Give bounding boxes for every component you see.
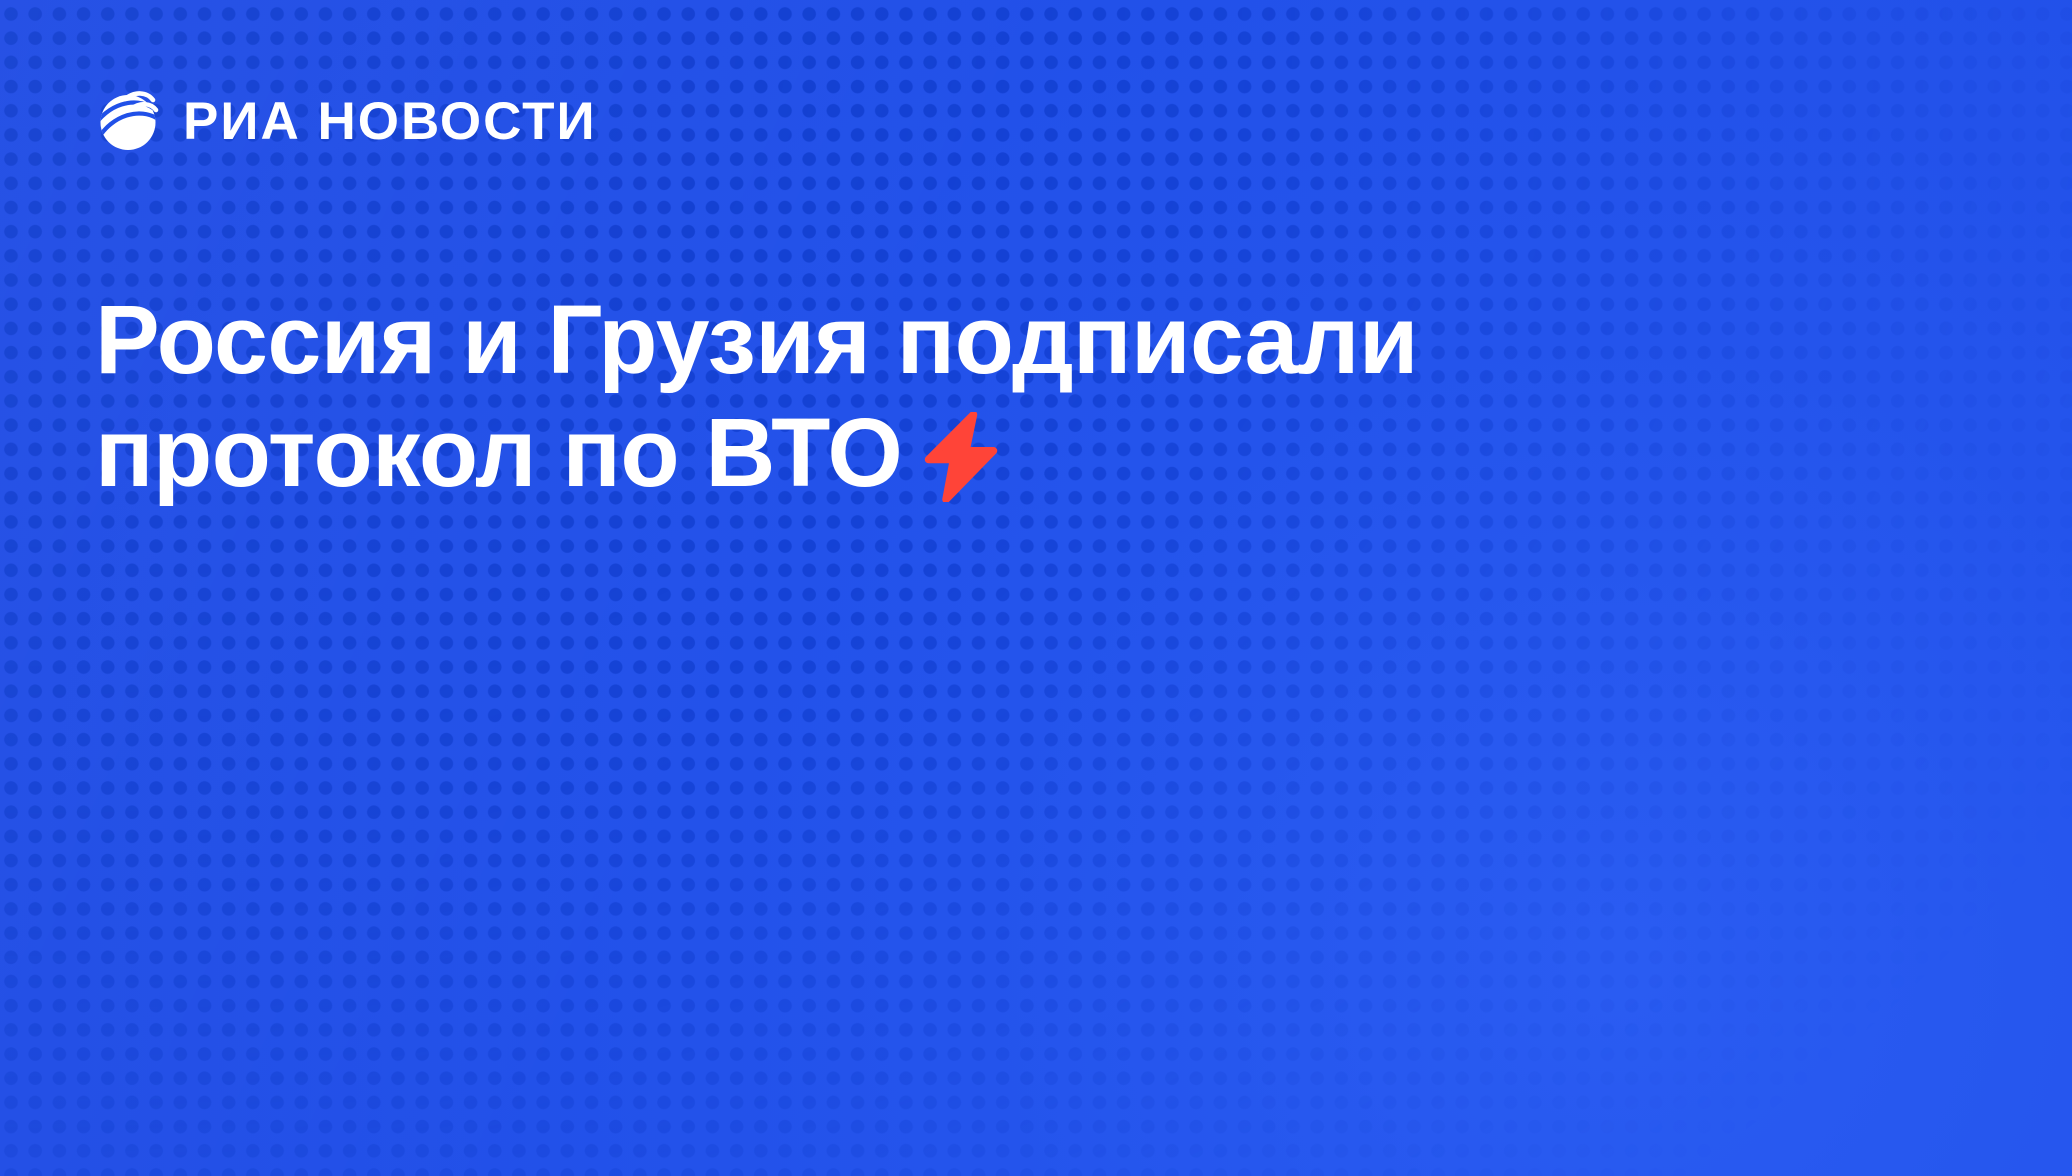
headline: Россия и Грузия подписали протокол по ВТ… bbox=[95, 283, 1855, 510]
news-share-card: РИА НОВОСТИ Россия и Грузия подписали пр… bbox=[0, 0, 2072, 1176]
brand-logo[interactable]: РИА НОВОСТИ bbox=[95, 83, 597, 157]
headline-line-2: протокол по ВТО bbox=[95, 398, 902, 507]
halftone-dot-pattern bbox=[0, 0, 2072, 1176]
brand-name: РИА НОВОСТИ bbox=[183, 95, 597, 148]
high-voltage-lightning-icon bbox=[918, 412, 1004, 502]
headline-line-2-wrap: протокол по ВТО bbox=[95, 396, 1855, 509]
headline-line-1: Россия и Грузия подписали bbox=[95, 283, 1855, 396]
ria-globe-swoosh-icon bbox=[95, 87, 161, 153]
